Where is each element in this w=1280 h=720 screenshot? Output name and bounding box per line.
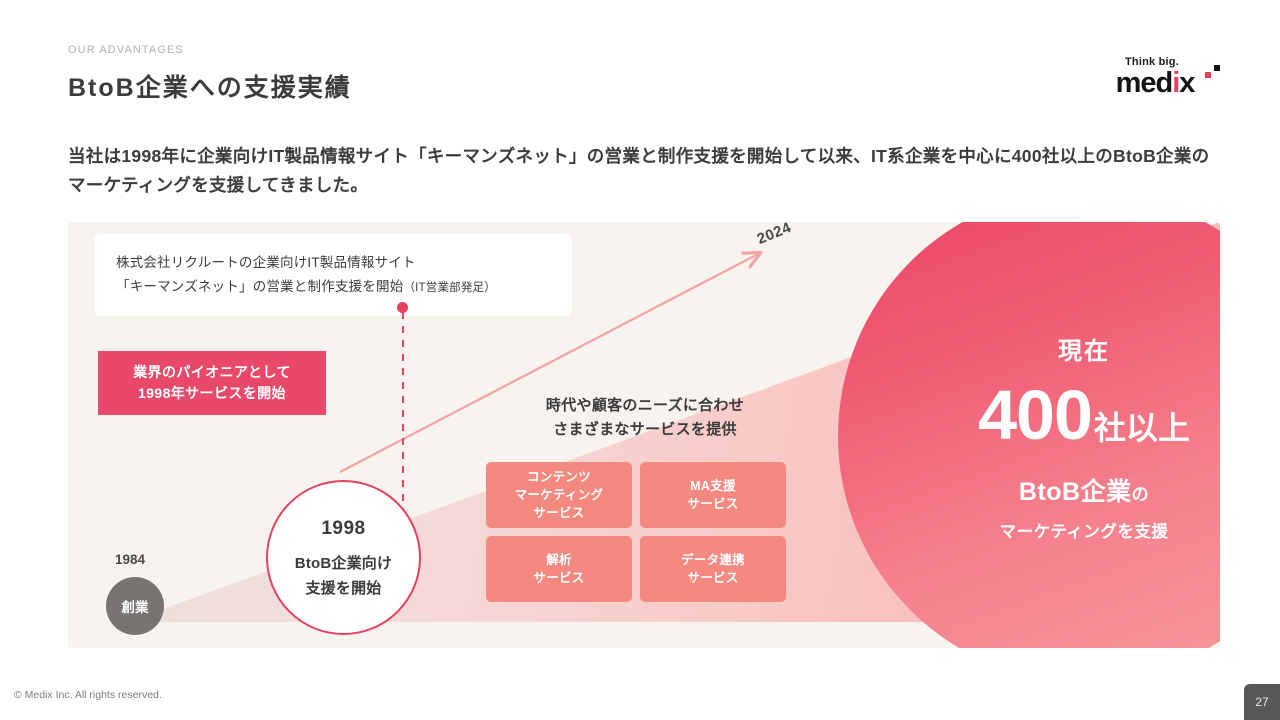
lead-paragraph: 当社は1998年に企業向けIT製品情報サイト「キーマンズネット」の営業と制作支援… — [68, 142, 1218, 200]
milestone-1998-line-1: BtoB企業向け — [295, 552, 392, 573]
highlight-line-1: BtoB企業の — [1019, 472, 1149, 508]
pioneer-badge: 業界のパイオニアとして 1998年サービスを開始 — [98, 351, 326, 415]
milestone-1998-line-2: 支援を開始 — [305, 577, 381, 598]
year-2024-label: 2024 — [755, 222, 794, 248]
current-status-circle: 現在 400 社以上 BtoB企業の マーケティングを支援 — [838, 222, 1220, 648]
service-card-line: サービス — [533, 569, 584, 587]
logo-wordmark-part1: med — [1116, 67, 1173, 99]
services-heading-line-1: 時代や顧客のニーズに合わせ — [500, 394, 790, 418]
callout-line-1: 株式会社リクルートの企業向けIT製品情報サイト — [116, 251, 550, 275]
current-label: 現在 — [1058, 331, 1110, 366]
logo-pixel-dark-icon — [1214, 65, 1220, 71]
service-card-line: 解析 — [546, 551, 572, 569]
service-card-line: マーケティング — [515, 486, 604, 504]
company-count-unit: 社以上 — [1094, 403, 1190, 449]
company-count-number: 400 — [978, 380, 1092, 450]
logo-wordmark-part2: x — [1179, 67, 1194, 99]
service-card[interactable]: データ連携 サービス — [640, 536, 786, 602]
highlight-line-1-suffix: の — [1132, 485, 1150, 504]
company-count: 400 社以上 — [978, 380, 1190, 450]
page-header: OUR ADVANTAGES BtoB企業への支援実績 — [68, 44, 352, 104]
year-1984-label: 1984 — [115, 552, 145, 567]
service-card-line: サービス — [533, 504, 584, 522]
milestone-1998-circle: 1998 BtoB企業向け 支援を開始 — [266, 480, 421, 635]
service-card-line: データ連携 — [681, 551, 745, 569]
eyebrow-label: OUR ADVANTAGES — [68, 44, 352, 56]
timeline-diagram-panel: 2024 現在 400 社以上 BtoB企業の マーケティングを支援 株式会社リ… — [68, 222, 1220, 648]
page-number-badge: 27 — [1244, 684, 1280, 720]
callout-note: （IT営業部発足） — [403, 282, 496, 294]
highlight-line-1-main: BtoB企業 — [1019, 478, 1132, 506]
logo-pixel-accent-icon — [1205, 72, 1211, 78]
copyright-text: © Medix Inc. All rights reserved. — [14, 689, 162, 701]
services-grid: コンテンツ マーケティング サービス MA支援 サービス 解析 サービス データ… — [486, 462, 786, 602]
page-title: BtoB企業への支援実績 — [68, 68, 352, 104]
service-card[interactable]: 解析 サービス — [486, 536, 632, 602]
pioneer-badge-line-1: 業界のパイオニアとして — [133, 362, 291, 383]
service-card[interactable]: MA支援 サービス — [640, 462, 786, 528]
logo-wordmark: medix — [1098, 69, 1218, 98]
timeline-dashed-connector — [402, 312, 404, 512]
medix-logo: Think big. medix — [1098, 56, 1218, 98]
service-card[interactable]: コンテンツ マーケティング サービス — [486, 462, 632, 528]
callout-box: 株式会社リクルートの企業向けIT製品情報サイト 「キーマンズネット」の営業と制作… — [94, 234, 572, 316]
services-heading: 時代や顧客のニーズに合わせ さまざまなサービスを提供 — [500, 394, 790, 442]
service-card-line: MA支援 — [690, 477, 736, 495]
milestone-1998-year: 1998 — [321, 518, 365, 540]
callout-line-2: 「キーマンズネット」の営業と制作支援を開始 — [116, 279, 403, 294]
service-card-line: サービス — [687, 569, 738, 587]
service-card-line: コンテンツ — [527, 468, 591, 486]
pioneer-badge-line-2: 1998年サービスを開始 — [138, 383, 286, 404]
services-heading-line-2: さまざまなサービスを提供 — [500, 418, 790, 442]
callout-line-2-wrap: 「キーマンズネット」の営業と制作支援を開始（IT営業部発足） — [116, 275, 550, 299]
service-card-line: サービス — [687, 495, 738, 513]
founding-circle: 創業 — [106, 577, 164, 635]
highlight-line-2: マーケティングを支援 — [1000, 518, 1169, 542]
founding-label: 創業 — [122, 596, 149, 616]
